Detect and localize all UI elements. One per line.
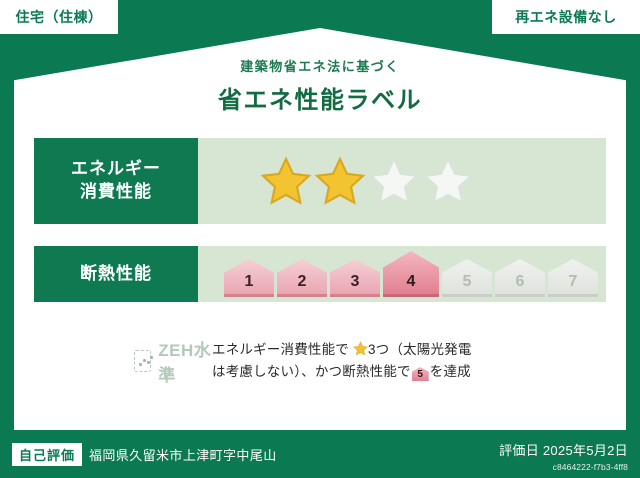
energy-performance-label: 住宅（住棟） 再エネ設備なし 建築物省エネ法に基づく 省エネ性能ラベル エネルギ… <box>0 0 640 478</box>
zeh-description-line2: は考慮しない）、かつ断熱性能で5を達成 <box>212 361 472 383</box>
property-address: 福岡県久留米市上津町字中尾山 <box>89 445 277 464</box>
zeh-description: エネルギー消費性能で 3つ（太陽光発電 は考慮しない）、かつ断熱性能で5を達成 <box>212 339 472 384</box>
star-icon-filled-2 <box>314 155 366 207</box>
zeh-dashed-box-icon <box>134 350 151 372</box>
grade-scale: 1 2 3 4 5 6 7 <box>198 251 598 297</box>
grade-chip-6: 6 <box>495 259 545 297</box>
grade-chip-4-current: 4 <box>383 251 439 297</box>
row-insulation-performance: 断熱性能 1 2 3 4 5 6 7 <box>34 246 606 302</box>
star-rating <box>198 155 474 207</box>
zeh-desc-text-a: エネルギー消費性能で <box>212 342 349 357</box>
zeh-desc-text-c: は考慮しない）、かつ断熱性能で <box>212 364 411 379</box>
row-energy-performance: エネルギー 消費性能 <box>34 138 606 224</box>
grade-chip-3: 3 <box>330 259 380 297</box>
insulation-performance-value: 1 2 3 4 5 6 7 <box>198 246 606 302</box>
label-footer: 自己評価 福岡県久留米市上津町字中尾山 評価日 2025年5月2日 c84642… <box>0 430 640 478</box>
label-title-block: 建築物省エネ法に基づく 省エネ性能ラベル <box>0 56 640 115</box>
title-subtitle: 建築物省エネ法に基づく <box>0 56 640 75</box>
zeh-description-line1: エネルギー消費性能で 3つ（太陽光発電 <box>212 339 472 361</box>
star-icon-inline <box>353 341 368 356</box>
zeh-mark: ZEH水準 <box>34 336 212 386</box>
grade-chip-5: 5 <box>442 259 492 297</box>
grade-chip-inline: 5 <box>412 367 429 381</box>
badge-dwelling-type: 住宅（住棟） <box>0 0 118 34</box>
insulation-performance-label: 断熱性能 <box>34 246 198 302</box>
zeh-mark-label: ZEH水準 <box>158 336 212 386</box>
page-title: 省エネ性能ラベル <box>0 80 640 115</box>
grade-chip-7: 7 <box>548 259 598 297</box>
self-evaluation-badge: 自己評価 <box>12 443 82 466</box>
zeh-standard-note: ZEH水準 エネルギー消費性能で 3つ（太陽光発電 は考慮しない）、かつ断熱性能… <box>34 336 606 386</box>
zeh-desc-text-b: 3つ（太陽光発電 <box>368 342 472 357</box>
document-id: c8464222-f7b3-4ff8 <box>499 462 628 472</box>
star-icon-filled-1 <box>260 155 312 207</box>
energy-performance-label: エネルギー 消費性能 <box>34 138 198 224</box>
footer-left-group: 自己評価 福岡県久留米市上津町字中尾山 <box>12 443 277 466</box>
grade-chip-2: 2 <box>277 259 327 297</box>
energy-label-line2: 消費性能 <box>80 181 152 204</box>
star-icon-empty-3 <box>368 155 420 207</box>
energy-performance-value <box>198 138 606 224</box>
grade-chip-1: 1 <box>224 259 274 297</box>
evaluation-date: 評価日 2025年5月2日 <box>499 440 628 459</box>
energy-label-line1: エネルギー <box>71 158 161 181</box>
badge-renewable-energy: 再エネ設備なし <box>492 0 640 34</box>
zeh-desc-text-d: を達成 <box>430 364 471 379</box>
star-icon-empty-4 <box>422 155 474 207</box>
footer-right-group: 評価日 2025年5月2日 c8464222-f7b3-4ff8 <box>499 440 628 472</box>
